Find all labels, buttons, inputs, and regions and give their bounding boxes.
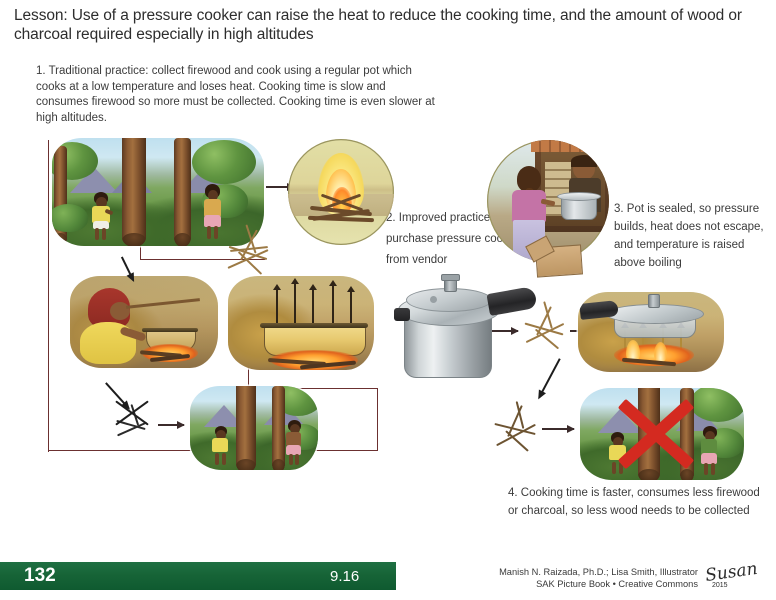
firewood-bundle-small — [520, 306, 570, 352]
firewood-bundle-traditional — [222, 232, 276, 276]
credit-line-license: SAK Picture Book • Creative Commons — [498, 578, 698, 590]
credits-block: Manish N. Raizada, Ph.D.; Lisa Smith, Il… — [498, 566, 698, 590]
arrow-down-to-result — [539, 358, 561, 398]
illustration-forest-less-wood — [190, 386, 318, 470]
arrow-loop-back — [105, 382, 129, 408]
caption-step-4: 4. Cooking time is faster, consumes less… — [508, 484, 773, 520]
flow-connector-right-vertical — [377, 388, 378, 451]
illustration-open-pot-heat-escaping — [228, 276, 374, 370]
page-title: Lesson: Use of a pressure cooker can rai… — [14, 6, 766, 44]
picture-book-page: Lesson: Use of a pressure cooker can rai… — [0, 0, 776, 600]
illustration-woman-cooking-open-fire — [70, 276, 218, 368]
arrow-cooker-to-sticks — [492, 330, 518, 332]
flow-connector-left-vertical — [48, 140, 49, 452]
flow-connector-scene-down — [140, 244, 141, 260]
red-x-overlay — [610, 392, 702, 476]
caption-step-1: 1. Traditional practice: collect firewoo… — [36, 64, 436, 126]
illustration-pressure-cooker-on-fire — [578, 292, 724, 372]
firewood-bundle-result — [490, 406, 542, 454]
page-number: 132 — [24, 565, 56, 587]
arrow-sticks-to-forest-x — [542, 428, 574, 430]
caption-step-3: 3. Pot is sealed, so pressure builds, he… — [614, 200, 774, 272]
signature-year: 2015 — [712, 582, 728, 589]
credit-line-authors: Manish N. Raizada, Ph.D.; Lisa Smith, Il… — [498, 566, 698, 578]
section-number: 9.16 — [330, 568, 359, 585]
illustration-forest-collect-wood — [52, 138, 264, 246]
illustrator-signature: Susan — [704, 558, 766, 598]
arrow-crossed-sticks-to-forest — [158, 424, 184, 426]
illustration-campfire — [288, 139, 394, 245]
firewood-bundle-crossed-out — [112, 408, 154, 444]
